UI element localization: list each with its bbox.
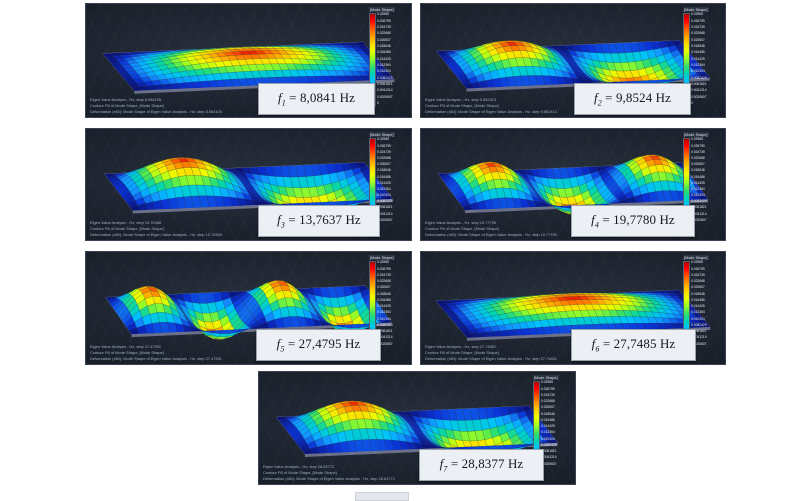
legend-value: 0.012364 — [691, 188, 707, 191]
legend-value: 0.022668 — [377, 280, 393, 283]
legend-value: 0.012364 — [377, 64, 393, 67]
mode-panel-6[interactable]: [Mode Shape] 0.02985 0.026799 0.024739 0… — [420, 251, 726, 365]
freq-subscript: 6 — [595, 345, 599, 354]
legend-value: 0.026799 — [377, 268, 393, 271]
caption-line: Contour Fill of Mode Shape, [Mode Shape] — [425, 351, 557, 355]
caption-line: Deformation (x60): Mode Shape of Eigen V… — [425, 110, 557, 114]
mode-panel-2[interactable]: [Mode Shape] 0.02985 0.026799 0.024739 0… — [420, 3, 726, 118]
frequency-label-box-6: f6 = 27,7485 Hz — [571, 329, 696, 361]
legend-value: 0.020607 — [541, 406, 557, 409]
legend-value: 0.02985 — [691, 13, 707, 16]
legend-value: 0.020607 — [691, 39, 707, 42]
legend-value: 0.0082429 — [377, 200, 393, 203]
freq-value: 8,0841 Hz — [300, 90, 355, 105]
legend-value: 0.02985 — [691, 261, 707, 264]
legend-value: 0.020607 — [377, 39, 393, 42]
legend-value: 0.016486 — [541, 419, 557, 422]
legend-value: 0.010304 — [377, 70, 393, 73]
mode-panel-3[interactable]: [Mode Shape] 0.02985 0.026799 0.024739 0… — [85, 128, 412, 241]
caption-line: Deformation (x60): Mode Shape of Eigen V… — [425, 233, 557, 237]
color-legend-1: [Mode Shape] 0.02985 0.026799 0.024739 0… — [369, 7, 409, 107]
caption-line: Eigen Value Analysis - Hz, step 9.852413 — [425, 98, 557, 102]
legend-value: 0 — [377, 102, 393, 105]
freq-subscript: 3 — [281, 221, 285, 230]
legend-values: 0.02985 0.026799 0.024739 0.022668 0.020… — [377, 13, 393, 105]
legend-value: 0.016486 — [377, 51, 393, 54]
legend-value: 0.014425 — [691, 182, 707, 185]
legend-value: 0.014425 — [377, 182, 393, 185]
caption-line: Deformation (x60): Mode Shape of Eigen V… — [90, 110, 222, 114]
legend-value: 0.020607 — [377, 286, 393, 289]
freq-subscript: 1 — [282, 99, 286, 108]
freq-subscript: 5 — [280, 345, 284, 354]
frequency-label-2: f2 = 9,8524 Hz — [594, 90, 671, 108]
freq-value: 13,7637 Hz — [299, 212, 361, 227]
legend-value: 0.018546 — [377, 293, 393, 296]
freq-value: 9,8524 Hz — [616, 90, 671, 105]
legend-value: 0.016486 — [691, 51, 707, 54]
caption-line: Contour Fill of Mode Shape, [Mode Shape] — [263, 471, 395, 475]
legend-value: 0.02985 — [377, 261, 393, 264]
caption-line: Eigen Value Analysis - Hz, step 8.084105 — [90, 98, 222, 102]
caption-line: Contour Fill of Mode Shape, [Mode Shape] — [425, 104, 557, 108]
frequency-label-box-1: f1 = 8,0841 Hz — [258, 83, 375, 115]
legend-value: 0.024739 — [541, 394, 557, 397]
legend-value: 0.016486 — [691, 299, 707, 302]
legend-value: 0.024739 — [691, 274, 707, 277]
legend-value: 0.016486 — [691, 176, 707, 179]
legend-value: 0.012364 — [691, 311, 707, 314]
legend-value: 0.010304 — [691, 318, 707, 321]
legend-value: 0.012364 — [541, 431, 557, 434]
frequency-label-1: f1 = 8,0841 Hz — [278, 90, 355, 108]
freq-subscript: 2 — [598, 99, 602, 108]
caption-line: Contour Fill of Mode Shape, [Mode Shape] — [90, 104, 222, 108]
legend-value: 0.024739 — [377, 274, 393, 277]
legend-value: 0.02985 — [377, 138, 393, 141]
frequency-label-4: f4 = 19,7780 Hz — [591, 212, 675, 230]
legend-value: 0.024739 — [377, 26, 393, 29]
frequency-label-box-2: f2 = 9,8524 Hz — [574, 83, 691, 115]
legend-value: 0.012364 — [377, 311, 393, 314]
mode-panel-1[interactable]: [Mode Shape] 0.02985 0.026799 0.024739 0… — [85, 3, 412, 118]
legend-value: 0.014425 — [377, 58, 393, 61]
legend-value: 0.010304 — [691, 194, 707, 197]
legend-value: 0.026799 — [377, 20, 393, 23]
legend-value: 0.022668 — [377, 32, 393, 35]
legend-value: 0.0020607 — [377, 96, 393, 99]
caption-line: Eigen Value Analysis - Hz, step 19.77795 — [425, 221, 557, 225]
legend-values: 0.02985 0.026799 0.024739 0.022668 0.020… — [691, 13, 707, 105]
legend-value: 0.0082429 — [541, 444, 557, 447]
legend-value: 0.024739 — [691, 151, 707, 154]
legend-value: 0.012364 — [377, 188, 393, 191]
freq-value: 19,7780 Hz — [613, 212, 675, 227]
legend-value: 0.026799 — [691, 145, 707, 148]
caption-line: Eigen Value Analysis - Hz, step 13.76368 — [90, 221, 222, 225]
legend-value: 0.014425 — [691, 58, 707, 61]
bottom-artifact — [355, 492, 409, 501]
legend-value: 0.0082429 — [691, 324, 707, 327]
legend-value: 0.02985 — [541, 381, 557, 384]
caption-line: Deformation (x60): Mode Shape of Eigen V… — [90, 233, 222, 237]
legend-value: 0.0061821 — [691, 83, 707, 86]
legend-value: 0.022668 — [691, 280, 707, 283]
legend-value: 0.026799 — [691, 20, 707, 23]
legend-value: 0.020607 — [691, 286, 707, 289]
legend-value: 0.020607 — [377, 163, 393, 166]
legend-value: 0.02985 — [377, 13, 393, 16]
analysis-caption-4: Eigen Value Analysis - Hz, step 19.77795… — [425, 221, 557, 237]
legend-value: 0.0082429 — [691, 77, 707, 80]
legend-value: 0.022668 — [541, 400, 557, 403]
legend-value: 0.020607 — [691, 163, 707, 166]
analysis-caption-1: Eigen Value Analysis - Hz, step 8.084105… — [90, 98, 222, 114]
frequency-label-box-4: f4 = 19,7780 Hz — [571, 205, 695, 237]
caption-line: Contour Fill of Mode Shape, [Mode Shape] — [90, 227, 222, 231]
caption-line: Deformation (x60): Mode Shape of Eigen V… — [90, 357, 222, 361]
frequency-label-box-3: f3 = 13,7637 Hz — [258, 205, 380, 237]
frequency-label-box-7: f7 = 28,8377 Hz — [419, 449, 544, 481]
caption-line: Eigen Value Analysis - Hz, step 27.47951 — [90, 345, 222, 349]
legend-value: 0.018546 — [691, 293, 707, 296]
caption-line: Deformation (x60): Mode Shape of Eigen V… — [263, 477, 395, 481]
legend-value: 0.0041214 — [377, 89, 393, 92]
legend-value: 0.026799 — [541, 388, 557, 391]
legend-value: 0.012364 — [691, 64, 707, 67]
legend-value: 0.024739 — [691, 26, 707, 29]
legend-value: 0.010304 — [541, 438, 557, 441]
legend-value: 0.0082429 — [691, 200, 707, 203]
legend-value: 0.022668 — [691, 157, 707, 160]
analysis-caption-5: Eigen Value Analysis - Hz, step 27.47951… — [90, 345, 222, 361]
legend-value: 0.022668 — [691, 32, 707, 35]
caption-line: Eigen Value Analysis - Hz, step 27.74851 — [425, 345, 557, 349]
figure-root: [Mode Shape] 0.02985 0.026799 0.024739 0… — [0, 0, 800, 501]
legend-value: 0.014425 — [541, 425, 557, 428]
mode-panel-7[interactable]: [Mode Shape] 0.02985 0.026799 0.024739 0… — [258, 371, 576, 485]
freq-value: 27,7485 Hz — [614, 336, 676, 351]
legend-value: 0.0061821 — [377, 83, 393, 86]
legend-value: 0.024739 — [377, 151, 393, 154]
legend-value: 0.0041214 — [691, 89, 707, 92]
caption-line: Contour Fill of Mode Shape, [Mode Shape] — [425, 227, 557, 231]
legend-value: 0.026799 — [377, 145, 393, 148]
legend-value: 0.016486 — [377, 176, 393, 179]
legend-value: 0.018546 — [377, 169, 393, 172]
analysis-caption-7: Eigen Value Analysis - Hz, step 28.83772… — [263, 465, 395, 481]
freq-value: 27,4795 Hz — [299, 336, 361, 351]
legend-value: 0.014425 — [691, 305, 707, 308]
mode-panel-4[interactable]: [Mode Shape] 0.02985 0.026799 0.024739 0… — [420, 128, 726, 241]
legend-value: 0.0082429 — [377, 77, 393, 80]
analysis-caption-6: Eigen Value Analysis - Hz, step 27.74851… — [425, 345, 557, 361]
legend-value: 0.016486 — [377, 299, 393, 302]
legend-value: 0.02985 — [691, 138, 707, 141]
analysis-caption-3: Eigen Value Analysis - Hz, step 13.76368… — [90, 221, 222, 237]
legend-value: 0.010304 — [377, 194, 393, 197]
frequency-label-box-5: f5 = 27,4795 Hz — [256, 329, 381, 361]
caption-line: Eigen Value Analysis - Hz, step 28.83772 — [263, 465, 395, 469]
legend-value: 0.022668 — [377, 157, 393, 160]
legend-value: 0.018546 — [541, 413, 557, 416]
legend-value: 0.018546 — [377, 45, 393, 48]
freq-subscript: 4 — [595, 221, 599, 230]
analysis-caption-2: Eigen Value Analysis - Hz, step 9.852413… — [425, 98, 557, 114]
legend-value: 0.018546 — [691, 45, 707, 48]
legend-value: 0.0082429 — [377, 324, 393, 327]
caption-line: Deformation (x60): Mode Shape of Eigen V… — [425, 357, 557, 361]
legend-value: 0.010304 — [377, 318, 393, 321]
legend-value: 0.0020607 — [691, 96, 707, 99]
legend-value: 0 — [691, 102, 707, 105]
legend-value: 0.010304 — [691, 70, 707, 73]
legend-value: 0.018546 — [691, 169, 707, 172]
freq-value: 28,8377 Hz — [462, 456, 524, 471]
frequency-label-6: f6 = 27,7485 Hz — [592, 336, 676, 354]
frequency-label-7: f7 = 28,8377 Hz — [440, 456, 524, 474]
mode-panel-5[interactable]: [Mode Shape] 0.02985 0.026799 0.024739 0… — [85, 251, 412, 365]
legend-value: 0.014425 — [377, 305, 393, 308]
frequency-label-5: f5 = 27,4795 Hz — [277, 336, 361, 354]
freq-subscript: 7 — [443, 465, 447, 474]
caption-line: Contour Fill of Mode Shape, [Mode Shape] — [90, 351, 222, 355]
frequency-label-3: f3 = 13,7637 Hz — [277, 212, 361, 230]
legend-value: 0.026799 — [691, 268, 707, 271]
